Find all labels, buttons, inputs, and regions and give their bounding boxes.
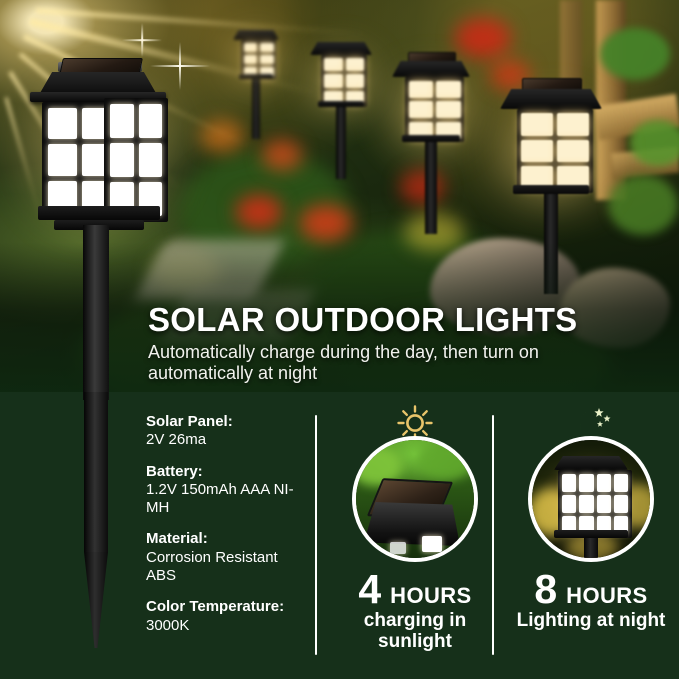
spec-value: 3000K (146, 617, 311, 635)
panel-body (364, 502, 460, 546)
spec-label: Color Temperature: (146, 598, 311, 616)
flower-red (455, 18, 511, 58)
hours-unit: HOURS (566, 583, 647, 609)
lighting-hours: 8 HOURS (503, 570, 679, 609)
solar-panel-photo (352, 436, 478, 562)
charging-hours: 4 HOURS (327, 570, 503, 609)
feature-lighting: 8 HOURS Lighting at night (503, 404, 679, 632)
charging-caption: charging in sunlight (327, 611, 503, 653)
subheadline: Automatically charge during the day, the… (148, 342, 578, 384)
vine-leaves (600, 28, 670, 80)
headline-block: SOLAR OUTDOOR LIGHTS Automatically charg… (148, 303, 668, 384)
spec-item: Material: Corrosion Resistant ABS (146, 530, 311, 585)
spec-item: Battery: 1.2V 150mAh AAA NI-MH (146, 463, 311, 518)
vertical-divider (315, 415, 317, 655)
lighting-caption: Lighting at night (503, 611, 679, 632)
lit-pane (390, 542, 406, 554)
hours-number: 8 (534, 570, 557, 609)
lantern-window-grid (558, 470, 632, 538)
spec-label: Solar Panel: (146, 413, 311, 431)
spec-label: Material: (146, 530, 311, 548)
lantern-roof (554, 456, 628, 470)
photo-inner (532, 440, 650, 558)
page-title: SOLAR OUTDOOR LIGHTS (148, 303, 668, 336)
flower-red (300, 205, 352, 241)
product-marketing-image: SOLAR OUTDOOR LIGHTS Automatically charg… (0, 0, 679, 679)
spec-list: Solar Panel: 2V 26ma Battery: 1.2V 150mA… (146, 413, 311, 648)
foliage-blob (418, 442, 476, 480)
spec-value: 2V 26ma (146, 431, 311, 449)
lit-pane (422, 536, 442, 552)
hours-number: 4 (358, 570, 381, 609)
lantern-base (554, 530, 628, 538)
spec-label: Battery: (146, 463, 311, 481)
lantern-stake (83, 225, 109, 400)
feature-charging: 4 HOURS charging in sunlight (327, 404, 503, 653)
flower-red (236, 195, 282, 229)
lantern-face-right (104, 98, 168, 222)
vine-leaves (630, 120, 679, 166)
hours-unit: HOURS (390, 583, 471, 609)
photo-inner (356, 440, 474, 558)
spec-value: 1.2V 150mAh AAA NI-MH (146, 481, 311, 518)
lantern-base (38, 206, 160, 220)
lantern-stake-lower (84, 392, 108, 552)
spec-item: Solar Panel: 2V 26ma (146, 413, 311, 450)
spec-item: Color Temperature: 3000K (146, 598, 311, 635)
spec-value: Corrosion Resistant ABS (146, 549, 311, 586)
flower-red (262, 140, 302, 170)
lantern-stem (584, 538, 598, 560)
flower-red (400, 170, 444, 204)
night-lantern-photo (528, 436, 654, 562)
